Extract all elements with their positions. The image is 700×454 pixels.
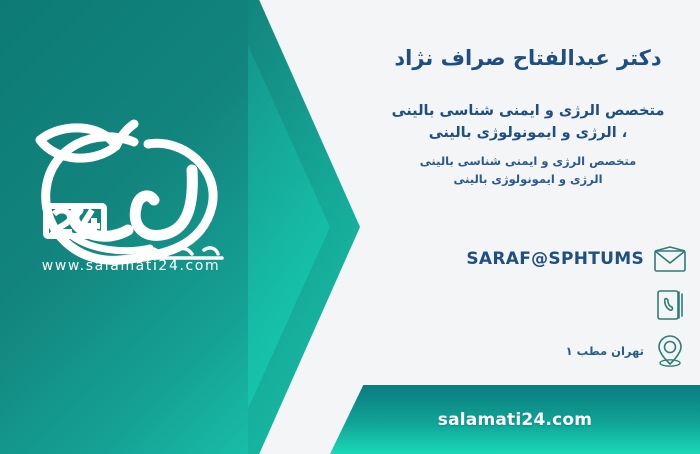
specialty-sub: متخصص الرژی و ایمنی شناسی بالینی الرژی و…: [368, 152, 688, 189]
logo-url-text: www.salamati24.com: [16, 258, 246, 274]
specialty-sub-line-2: الرژی و ایمونولوژی بالینی: [368, 170, 688, 188]
specialty-sub-line-1: متخصص الرژی و ایمنی شناسی بالینی: [368, 152, 688, 170]
specialty-main-line-1: متخصص الرژی و ایمنی شناسی بالینی: [368, 100, 688, 122]
phone-book-icon: [648, 285, 692, 325]
email-text: SARAF@SPHTUMS: [466, 249, 648, 269]
address-text: تهران مطب ۱: [566, 344, 648, 358]
specialty-main-line-2: ، الرژی و ایمونولوژی بالینی: [368, 122, 688, 144]
salamati24-logo: www.salamati24.com: [16, 108, 246, 308]
contact-row-address[interactable]: تهران مطب ۱: [362, 328, 692, 374]
specialty-main: متخصص الرژی و ایمنی شناسی بالینی ، الرژی…: [368, 100, 688, 145]
location-pin-icon: [648, 331, 692, 371]
phone-text: [644, 300, 648, 310]
doctor-name: دکتر عبدالفتاح صراف نژاد: [368, 45, 688, 72]
contact-row-email[interactable]: SARAF@SPHTUMS: [362, 236, 692, 282]
logo-artwork: [16, 108, 246, 278]
business-card: www.salamati24.com دکتر عبدالفتاح صراف ن…: [0, 0, 700, 454]
contact-row-phone[interactable]: [362, 282, 692, 328]
bottom-website-url[interactable]: salamati24.com: [330, 385, 700, 454]
envelope-icon: [648, 239, 692, 279]
card-content: دکتر عبدالفتاح صراف نژاد متخصص الرژی و ا…: [352, 0, 700, 385]
contact-list: SARAF@SPHTUMS: [362, 236, 692, 374]
